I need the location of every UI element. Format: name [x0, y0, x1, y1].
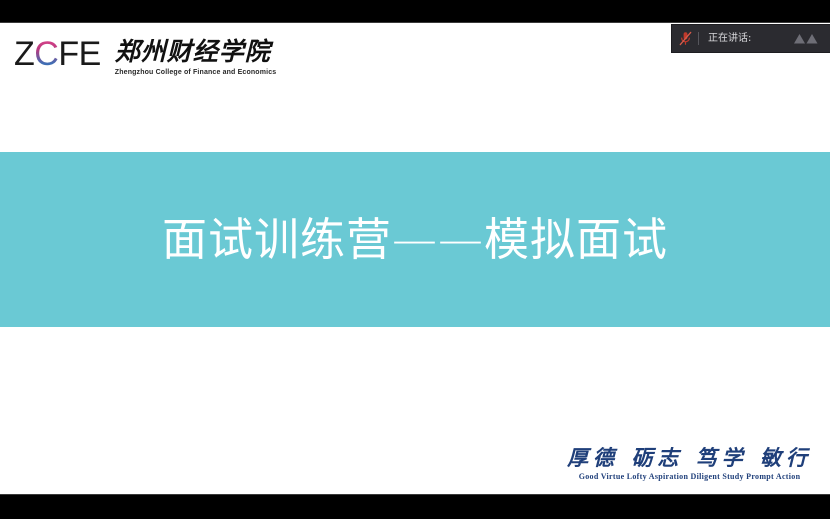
logo-wordmark-c: C — [34, 35, 58, 73]
microphone-muted-icon[interactable] — [672, 25, 698, 52]
double-chevron-icon[interactable] — [793, 32, 819, 45]
institution-logo: ZCFE 郑州财经学院 Zhengzhou College of Finance… — [14, 35, 276, 77]
overlay-divider — [698, 32, 699, 45]
logo-name-block: 郑州财经学院 Zhengzhou College of Finance and … — [115, 35, 276, 77]
logo-wordmark-z: Z — [14, 35, 34, 73]
title-band: 面试训练营——模拟面试 — [0, 152, 830, 327]
presentation-slide: ZCFE 郑州财经学院 Zhengzhou College of Finance… — [0, 23, 830, 494]
letterbox-top — [0, 0, 830, 22]
logo-name-en: Zhengzhou College of Finance and Economi… — [115, 68, 276, 77]
motto-text-en: Good Virtue Lofty Aspiration Diligent St… — [567, 471, 812, 482]
school-motto: 厚德 砺志 笃学 敏行 Good Virtue Lofty Aspiration… — [567, 445, 812, 482]
letterbox-top-hairline — [0, 22, 830, 23]
screen: ZCFE 郑州财经学院 Zhengzhou College of Finance… — [0, 0, 830, 519]
speaking-status-overlay[interactable]: 正在讲话: — [672, 25, 830, 52]
logo-name-cn: 郑州财经学院 — [115, 37, 276, 66]
slide-title: 面试训练营——模拟面试 — [162, 212, 668, 268]
letterbox-bottom — [0, 495, 830, 519]
speaking-status-label: 正在讲话: — [708, 32, 751, 46]
logo-wordmark-fe: FE — [58, 35, 100, 73]
logo-wordmark: ZCFE — [14, 35, 101, 73]
letterbox-bottom-hairline — [0, 494, 830, 495]
motto-text-cn: 厚德 砺志 笃学 敏行 — [567, 445, 812, 470]
